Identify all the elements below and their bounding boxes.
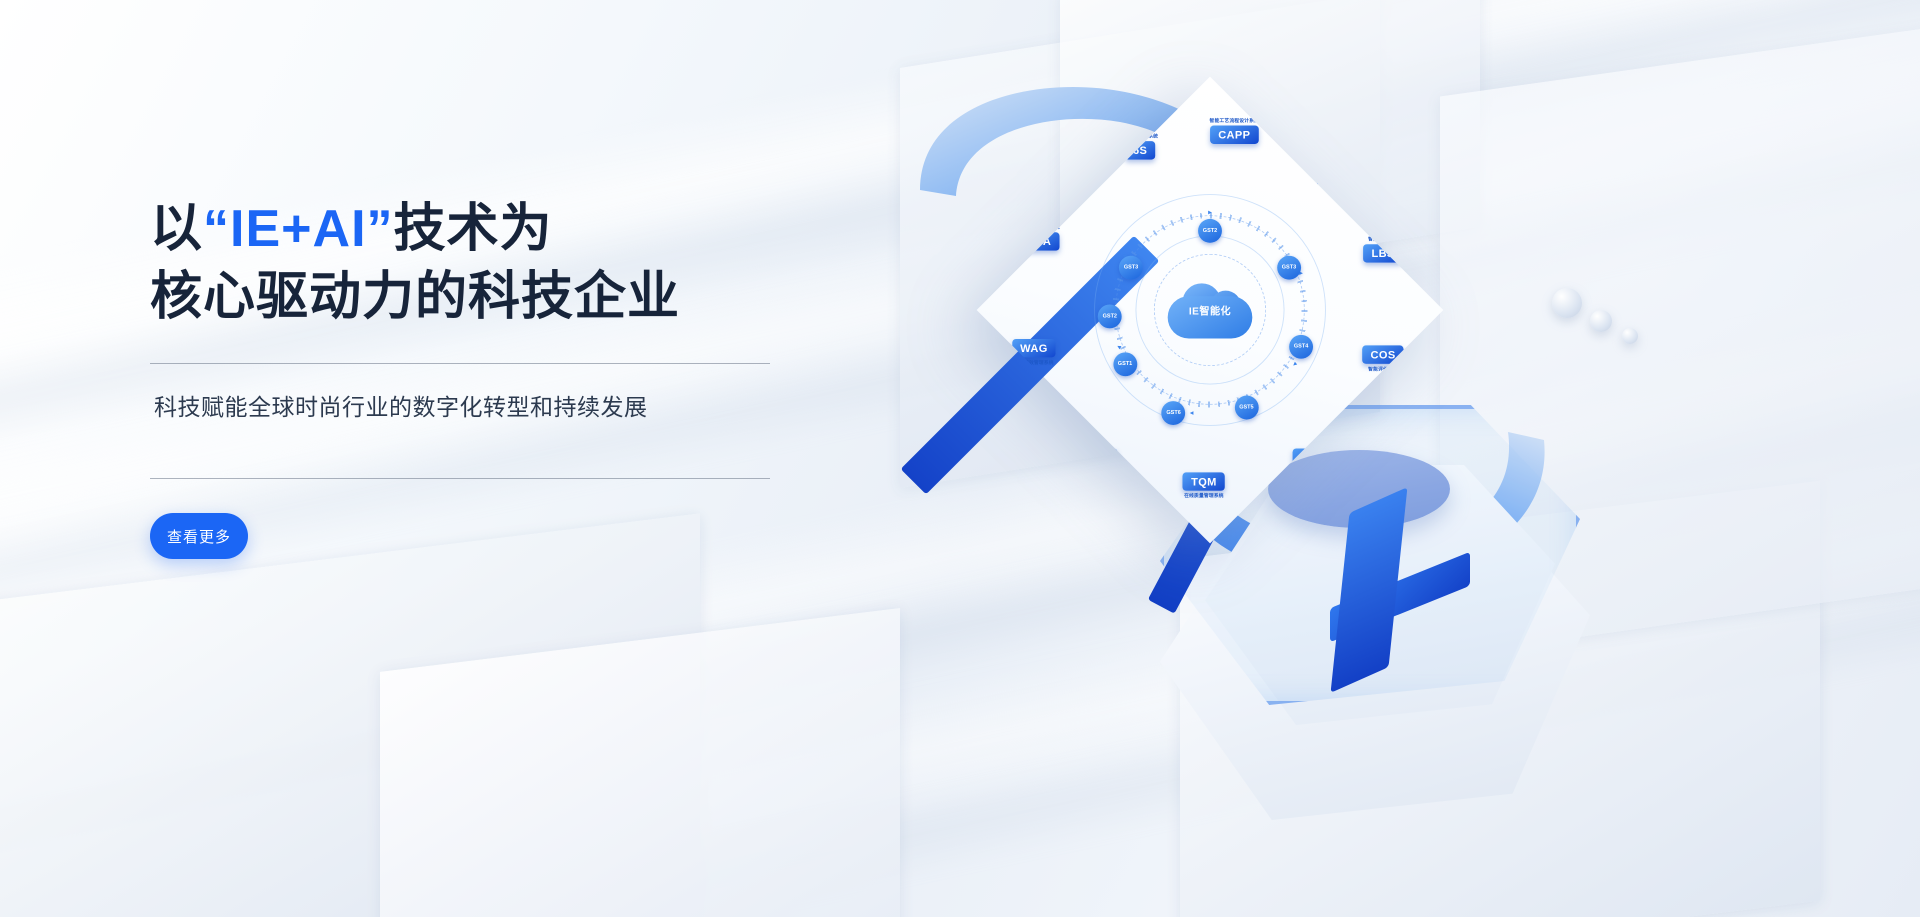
quote-close: ” (367, 200, 394, 258)
inner-node-gst3-left: GST3 (1119, 256, 1143, 280)
inner-node-gst5: GST5 (1234, 395, 1258, 419)
quote-open: “ (203, 200, 230, 258)
decor-sphere-large (1552, 288, 1582, 318)
page-subtitle: 科技赋能全球时尚行业的数字化转型和持续发展 (150, 364, 850, 446)
headline-suffix: 技术为 (394, 200, 553, 258)
node-code: LBS (1363, 244, 1403, 262)
center-cloud-label: IE智能化 (1168, 304, 1253, 319)
node-code: PES (1318, 159, 1358, 177)
ie-intelligence-diagram: IE智能化 GST2 GST3 GST4 GST5 GST6 GST1 GST3… (1058, 158, 1362, 462)
outer-node-capp: 智能工艺流程设计系统 CAPP (1209, 118, 1259, 145)
node-caption: 数字车间管理系统 (1081, 469, 1121, 475)
node-caption: 智能排位系统 (1368, 236, 1398, 242)
divider-top (150, 363, 770, 364)
hero-banner: 以“IE+AI”技术为 核心驱动力的科技企业 科技赋能全球时尚行业的数字化转型和… (0, 0, 1920, 917)
outer-node-lbs: 智能排位系统 LBS (1363, 236, 1403, 263)
view-more-button[interactable]: 查看更多 (150, 513, 248, 559)
decor-sphere-small (1622, 328, 1638, 344)
flow-arrow (1208, 211, 1212, 215)
node-code: TQM (1183, 473, 1225, 491)
inner-node-gst1: GST1 (1113, 353, 1137, 377)
outer-node-pm: PM 数字车间管理系统 (1081, 448, 1121, 475)
inner-node-gst4: GST4 (1289, 334, 1313, 358)
inner-node-gst3: GST3 (1277, 256, 1301, 280)
node-caption: 智能工艺流程设计系统 (1209, 118, 1259, 124)
node-caption: 在线质量管理系统 (1184, 493, 1224, 499)
headline-prefix: 以 (150, 200, 203, 258)
divider-bottom (150, 478, 770, 479)
flow-arrow (1190, 411, 1194, 415)
inner-node-gst2: GST2 (1198, 219, 1222, 243)
page-title-line-1: 以“IE+AI”技术为 (150, 196, 850, 264)
page-title-line-2: 核心驱动力的科技企业 (150, 264, 850, 332)
headline-accent: IE+AI (230, 200, 367, 258)
hero-illustration: IE智能化 GST2 GST3 GST4 GST5 GST6 GST1 GST3… (860, 60, 1920, 860)
outer-node-tqm: TQM 在线质量管理系统 (1183, 473, 1225, 500)
inner-node-gst6: GST6 (1162, 401, 1186, 425)
node-caption: PE管理系统 (1324, 151, 1351, 157)
hero-copy: 以“IE+AI”技术为 核心驱动力的科技企业 科技赋能全球时尚行业的数字化转型和… (150, 196, 850, 559)
center-cloud: IE智能化 (1168, 281, 1253, 338)
decor-sphere-medium (1590, 310, 1612, 332)
node-code: CAPP (1210, 126, 1259, 144)
inner-node-gst2-left: GST2 (1098, 304, 1122, 328)
outer-node-pes: PE管理系统 PES (1318, 151, 1358, 178)
node-code: PM (1084, 448, 1118, 466)
